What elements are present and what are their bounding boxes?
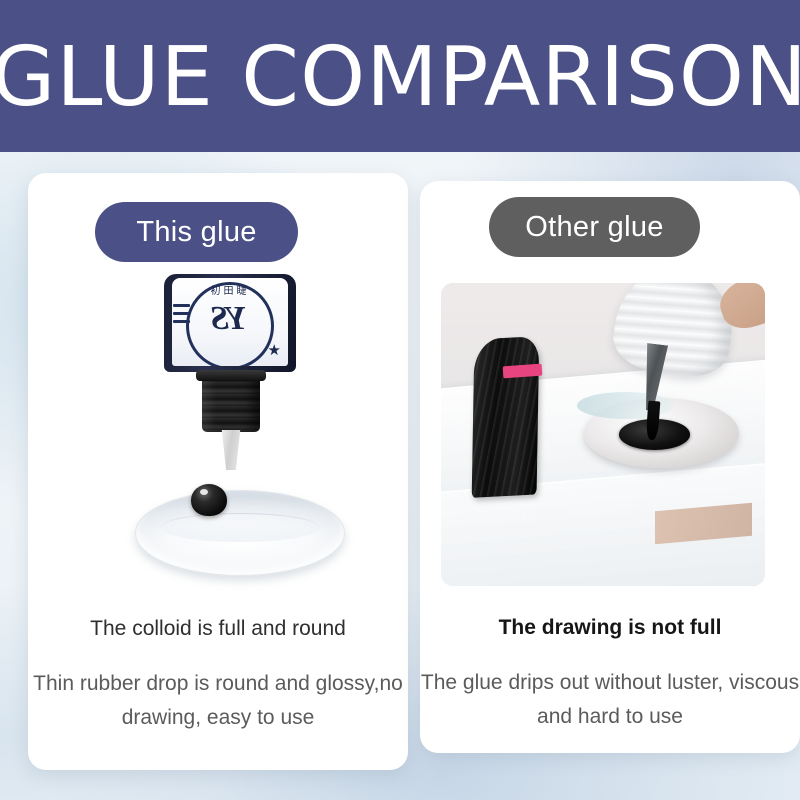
glue-bottle-nozzle-tip xyxy=(220,430,242,470)
glue-drop xyxy=(191,484,227,516)
infographic-page: GLUE COMPARISON This glue 初田睫 YS ★ The c… xyxy=(0,0,800,800)
jade-dish xyxy=(135,490,345,576)
caption-heading-right: The drawing is not full xyxy=(420,615,800,640)
badge-other-glue: Other glue xyxy=(489,197,700,257)
glue-bottle-neck xyxy=(202,370,260,432)
this-glue-illustration: 初田睫 YS ★ xyxy=(28,262,408,587)
badge-this-glue-label: This glue xyxy=(136,216,256,249)
other-glue-photo xyxy=(441,283,765,586)
header-banner: GLUE COMPARISON xyxy=(0,0,800,152)
badge-other-glue-label: Other glue xyxy=(525,211,663,244)
caption-heading-left: The colloid is full and round xyxy=(28,616,408,641)
caption-body-right: The glue drips out without luster, visco… xyxy=(420,666,800,734)
label-brand-monogram: YS xyxy=(172,300,288,338)
star-icon: ★ xyxy=(268,343,281,358)
page-title: GLUE COMPARISON xyxy=(0,37,800,119)
badge-this-glue: This glue xyxy=(95,202,298,262)
caption-body-left: Thin rubber drop is round and glossy,no … xyxy=(28,667,408,735)
photo-lash-strip-pink-edge xyxy=(502,363,542,378)
glue-bottle-label: 初田睫 YS ★ xyxy=(172,278,288,366)
photo-lash-strip xyxy=(472,336,539,497)
label-cn-text: 初田睫 xyxy=(172,282,288,297)
